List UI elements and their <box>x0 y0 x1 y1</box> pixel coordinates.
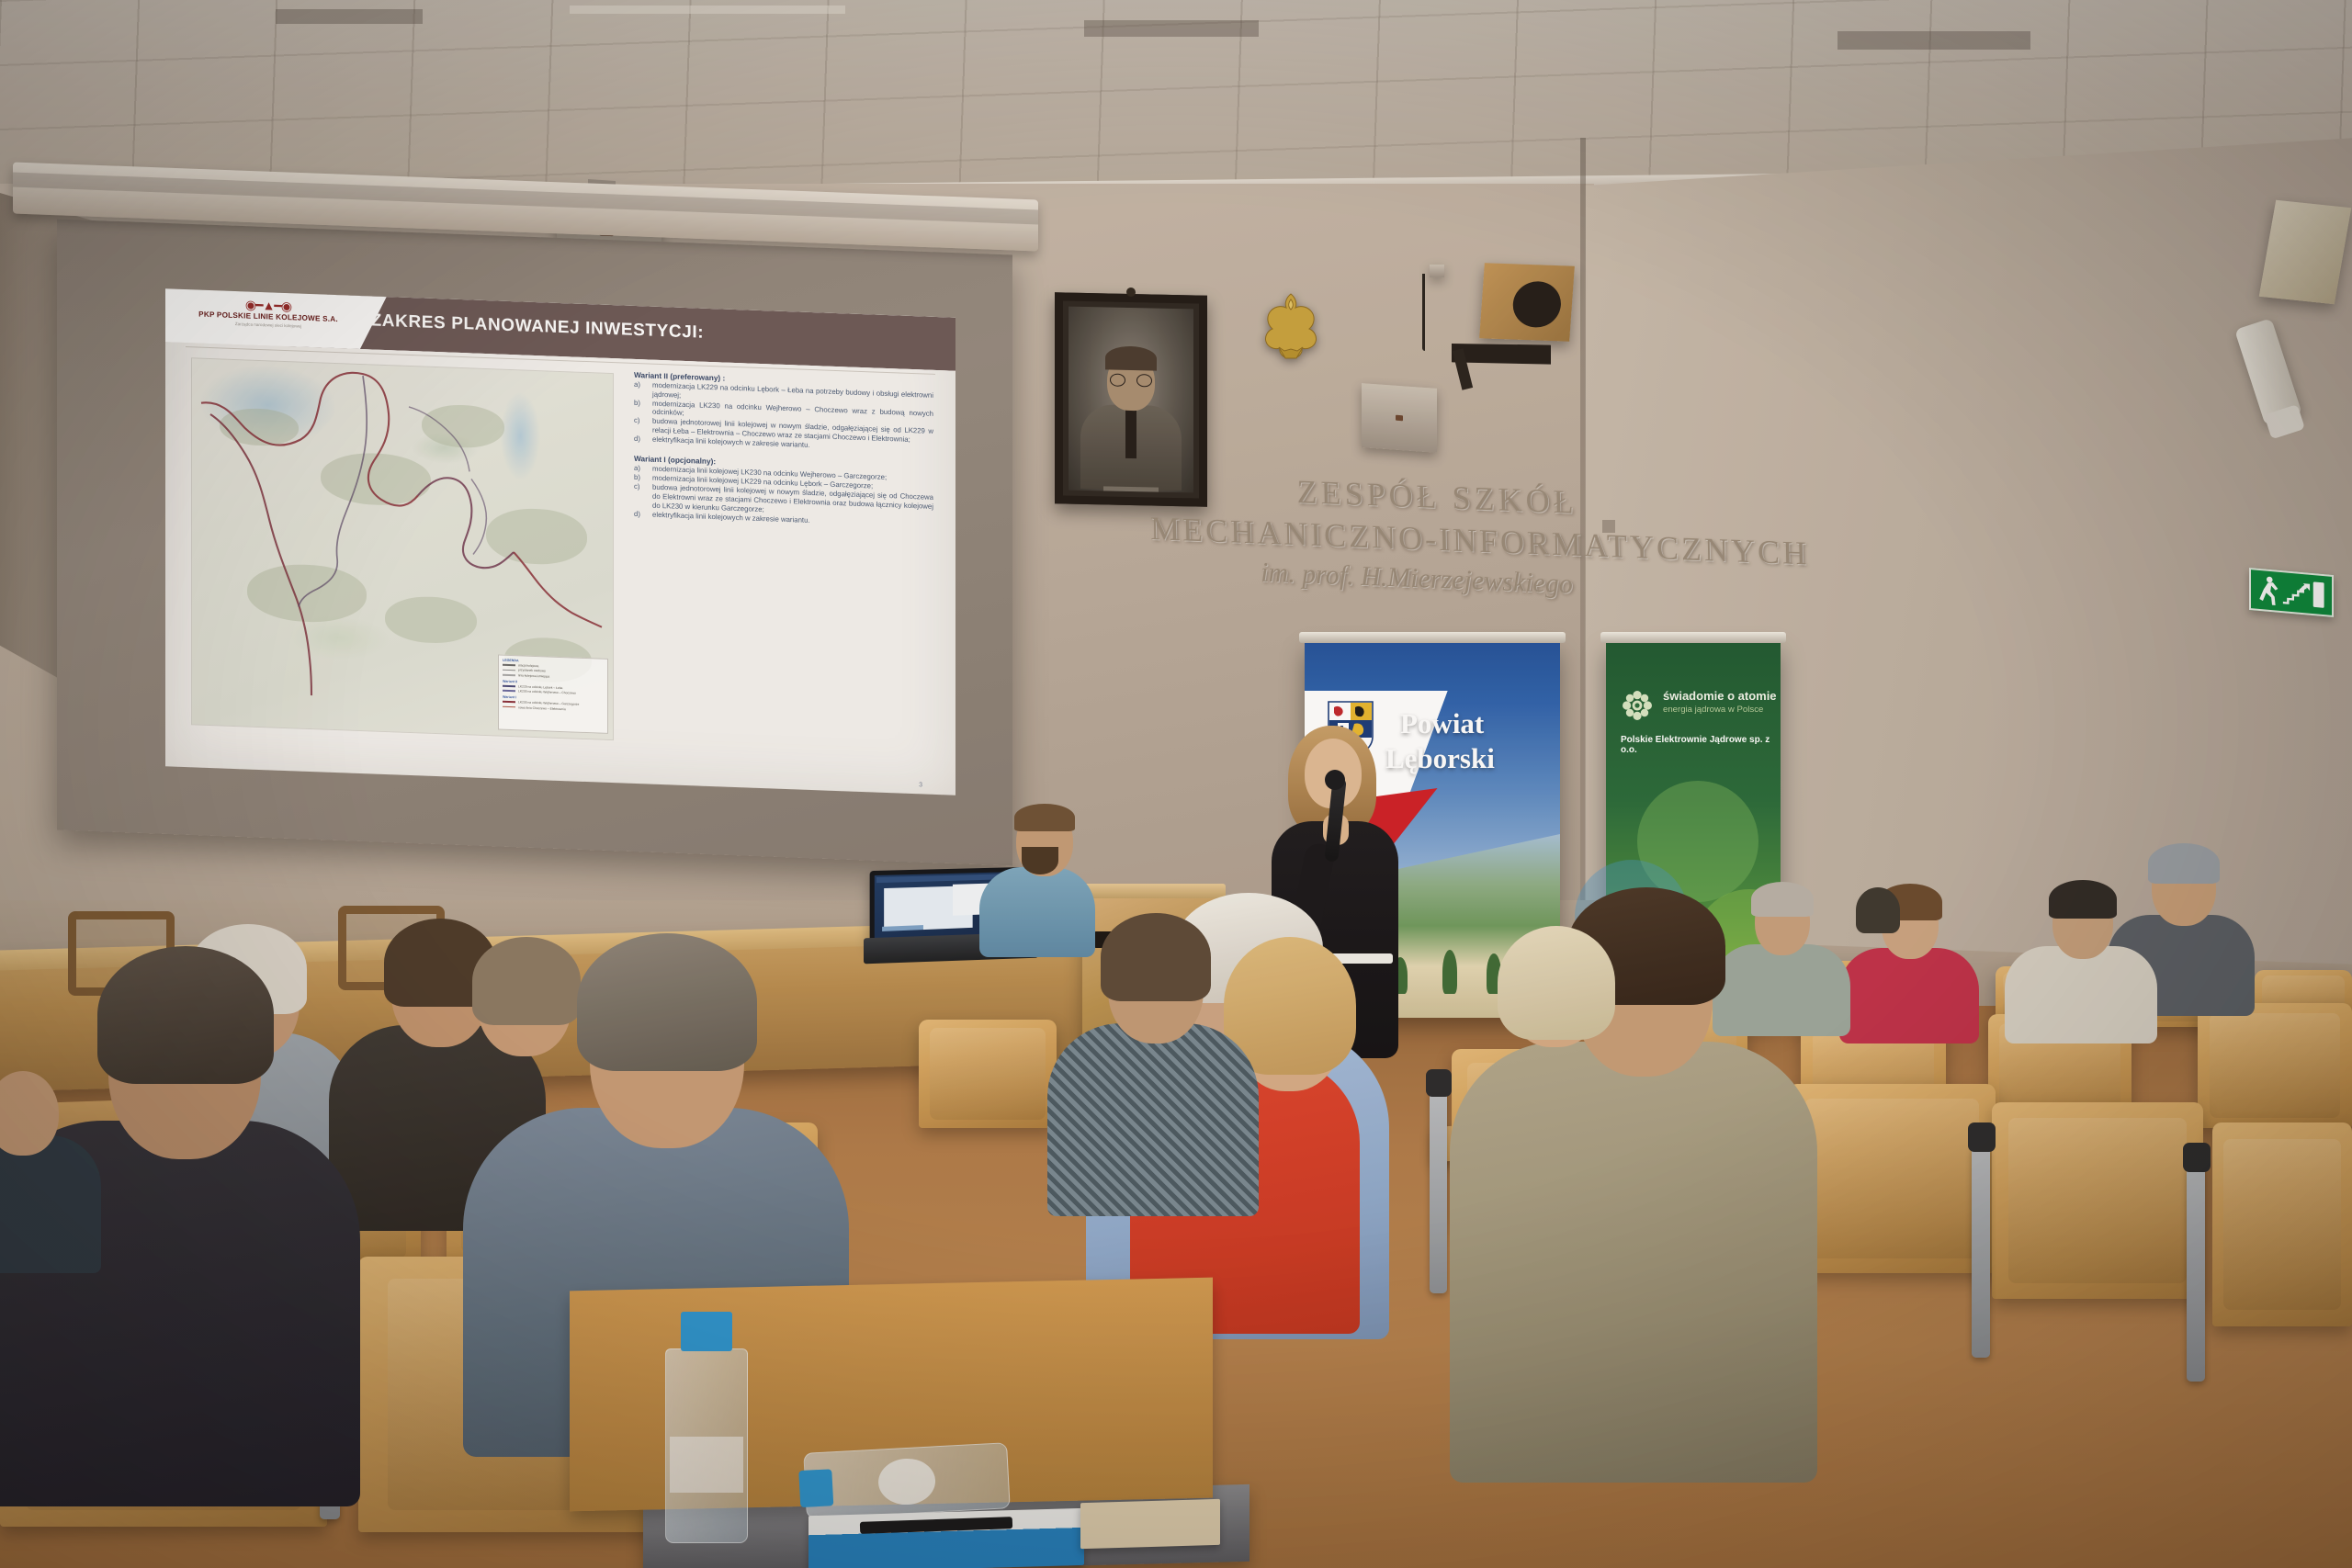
banner-title: świadomie o atomie <box>1663 689 1777 703</box>
wall-speaker-icon <box>1362 383 1437 453</box>
portrait-nameplate <box>1103 486 1159 491</box>
bullet-label: a) <box>634 380 652 399</box>
ceiling-light-strip <box>570 6 845 14</box>
banner-company: Polskie Elektrownie Jądrowe sp. z o.o. <box>1621 735 1781 755</box>
bullet-label: a) <box>634 464 652 473</box>
legend-text: LK230 na odcinku Wejherowo – Choczewo <box>518 689 576 694</box>
banner-top-rail <box>1299 632 1566 643</box>
podium-top-lip <box>1075 884 1226 898</box>
banner-title-line1: Powiat <box>1400 707 1484 740</box>
paper-stack[interactable] <box>1080 1499 1220 1549</box>
auditorium-seat[interactable] <box>2198 1003 2352 1128</box>
bullet-label: c) <box>634 482 652 510</box>
legend-swatch <box>503 669 515 671</box>
seat-arm-rail <box>2187 1167 2205 1382</box>
legend-swatch <box>503 690 515 692</box>
auditorium-seat[interactable] <box>1992 1102 2203 1299</box>
bullet-label: b) <box>634 399 652 417</box>
seat-arm-cap <box>1426 1069 1452 1097</box>
railway-route-map: LEGENDA stacja kolejowa przystanek osobo… <box>191 357 614 740</box>
legend-swatch <box>503 685 515 687</box>
slide-body: LEGENDA stacja kolejowa przystanek osobo… <box>165 351 955 795</box>
portrait-hook <box>1126 288 1136 297</box>
operator-torso <box>979 867 1095 957</box>
banner-top-rail <box>1600 632 1786 643</box>
ceiling-vent <box>1837 31 2030 50</box>
seat-arm-cap <box>2183 1143 2211 1172</box>
presentation-slide: ◉━▲━◉ PKP POLSKIE LINIE KOLEJOWE S.A. Za… <box>165 288 955 795</box>
audience-torso <box>1450 1042 1817 1483</box>
audience-hair <box>97 946 274 1084</box>
audience-head <box>1856 887 1900 933</box>
ceiling-vent <box>276 9 423 24</box>
slide-bullet-column: Wariant II (preferowany) : a)modernizacj… <box>634 370 933 530</box>
speaker-cable <box>1422 274 1425 351</box>
seat-arm-rail <box>1972 1146 1990 1358</box>
legend-text: stacja kolejowa <box>518 663 538 668</box>
seat-arm-cap <box>1968 1122 1996 1152</box>
bullet-label: d) <box>634 434 652 444</box>
legend-swatch <box>503 664 515 666</box>
wall-switch-plate[interactable] <box>1602 520 1615 533</box>
portrait-glasses-right <box>1136 374 1152 387</box>
legend-swatch <box>503 705 515 707</box>
audience-hair <box>577 933 757 1071</box>
bullet-label: c) <box>634 416 652 434</box>
portrait-hair <box>1105 345 1157 370</box>
auditorium-seat[interactable] <box>2212 1122 2352 1326</box>
legend-swatch <box>503 674 515 676</box>
auditorium-seat[interactable] <box>1788 1084 1996 1273</box>
bullet-label: d) <box>634 510 652 519</box>
water-bottle[interactable] <box>665 1312 748 1543</box>
patron-portrait-frame <box>1055 292 1207 506</box>
audience-hair <box>1751 882 1814 917</box>
operator-hair <box>1014 804 1075 831</box>
legend-text: nowa linia Choczewo – Elektrownia <box>518 705 566 711</box>
legend-text: linia kolejowa istniejąca <box>518 673 549 678</box>
conference-room-photo: ◉━▲━◉ PKP POLSKIE LINIE KOLEJOWE S.A. Za… <box>0 0 2352 1568</box>
audience-torso <box>2005 946 2157 1043</box>
map-legend: LEGENDA stacja kolejowa przystanek osobo… <box>498 655 608 734</box>
water-bottle-lying[interactable] <box>803 1442 1010 1519</box>
bottle-label <box>670 1437 742 1492</box>
wooden-speaker-box <box>1479 263 1575 341</box>
microphone-head-icon <box>1325 770 1345 790</box>
portrait-tie <box>1125 407 1136 458</box>
audience-hair <box>472 937 581 1025</box>
bullet-label: b) <box>634 473 652 482</box>
audience-torso <box>0 1135 101 1273</box>
audience-hair <box>2148 843 2220 884</box>
banner-title-line2: Lęborski <box>1385 742 1495 775</box>
speaker-cone <box>1511 280 1562 328</box>
banner-tree <box>1442 950 1457 994</box>
polish-eagle-emblem <box>1261 288 1321 364</box>
audience-hair <box>2049 880 2117 919</box>
slide-page-number: 3 <box>919 782 922 788</box>
wall-speaker-icon <box>1430 265 1444 277</box>
audience-torso <box>1047 1023 1259 1216</box>
legend-swatch <box>503 701 515 703</box>
audience-torso <box>1839 948 1979 1043</box>
bottle-cap <box>681 1312 732 1351</box>
banner-subtitle: energia jądrowa w Polsce <box>1663 705 1763 715</box>
laptop-taskbar <box>882 925 923 931</box>
speaker-led <box>1396 415 1403 422</box>
audience-hair <box>1101 913 1211 1001</box>
portrait-glasses-left <box>1110 374 1125 387</box>
legend-text: przystanek osobowy <box>518 669 546 673</box>
emergency-exit-sign <box>2249 568 2334 617</box>
audience-hair <box>1498 926 1615 1040</box>
ceiling-vent <box>1084 20 1259 37</box>
operator-beard <box>1022 847 1058 874</box>
audience-torso <box>1713 944 1850 1036</box>
bottle-cap <box>798 1469 833 1507</box>
seat-arm-rail <box>1430 1091 1447 1293</box>
atom-flower-logo <box>1621 689 1654 722</box>
blue-notebook[interactable] <box>808 1508 1084 1568</box>
auditorium-seat[interactable] <box>919 1020 1057 1128</box>
